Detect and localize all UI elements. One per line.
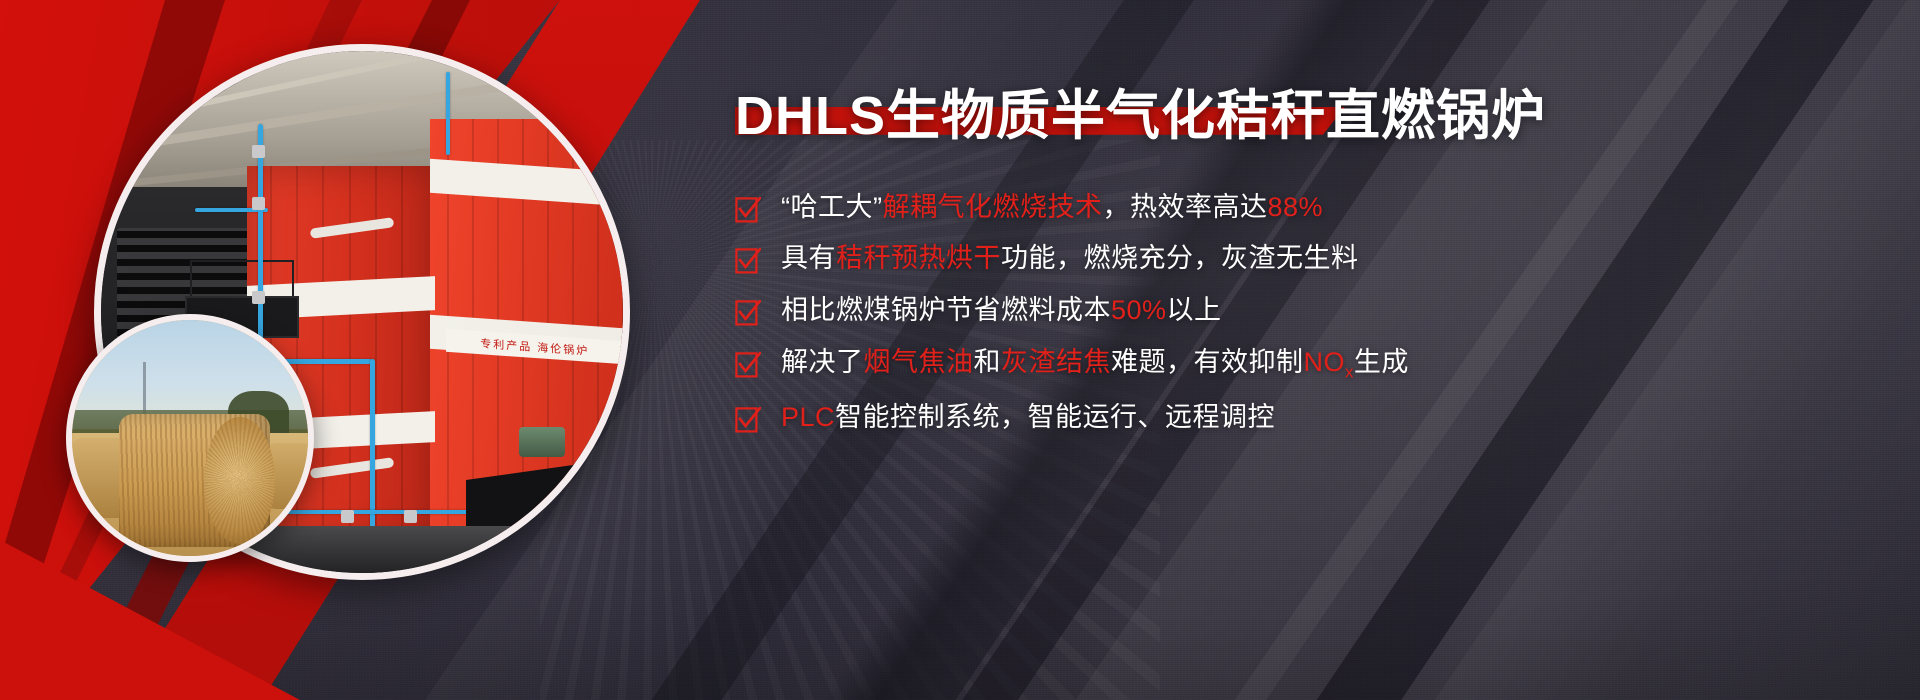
feature-text-segment: ，热效率高达 bbox=[1102, 192, 1267, 222]
straw-bale-face bbox=[204, 417, 275, 544]
feature-item: 具有秸秆预热烘干功能，燃烧充分，灰渣无生料 bbox=[735, 242, 1875, 276]
feature-text-segment: 烟气焦油 bbox=[864, 347, 974, 377]
feature-item: PLC智能控制系统，智能运行、远程调控 bbox=[735, 401, 1875, 435]
feature-text: 解决了烟气焦油和灰渣结焦难题，有效抑制NOx生成 bbox=[781, 346, 1875, 383]
feature-text-segment: 和 bbox=[974, 347, 1002, 377]
checkbox-checked-icon bbox=[735, 352, 761, 378]
feature-text: 相比燃煤锅炉节省燃料成本50%以上 bbox=[781, 294, 1875, 328]
straw-bale-photo bbox=[66, 314, 314, 562]
feature-text-segment: 50% bbox=[1111, 295, 1167, 325]
feature-text-segment: 秸秆预热烘干 bbox=[836, 243, 1001, 273]
feature-text-segment: x bbox=[1345, 362, 1354, 381]
feature-text-segment: 解耦气化燃烧技术 bbox=[882, 192, 1102, 222]
feature-item: 相比燃煤锅炉节省燃料成本50%以上 bbox=[735, 294, 1875, 328]
feature-text-segment: NO bbox=[1304, 347, 1346, 377]
blue-pipe bbox=[446, 72, 450, 156]
feature-text-segment: “哈工大” bbox=[781, 192, 882, 222]
feature-text-segment: 88% bbox=[1267, 192, 1323, 222]
feature-text-segment: 以上 bbox=[1167, 295, 1222, 325]
feature-text-segment: PLC bbox=[781, 402, 835, 432]
title-block: DHLS生物质半气化秸秆直燃锅炉 bbox=[735, 88, 1546, 145]
feature-item: “哈工大”解耦气化燃烧技术，热效率高达88% bbox=[735, 191, 1875, 225]
feature-text-segment: 智能控制系统，智能运行、远程调控 bbox=[835, 402, 1275, 432]
boiler-railing bbox=[190, 260, 294, 302]
feature-text-segment: 难题，有效抑制 bbox=[1111, 347, 1304, 377]
checkbox-checked-icon bbox=[735, 197, 761, 223]
checkbox-checked-icon bbox=[735, 300, 761, 326]
feature-text-segment: 解决了 bbox=[781, 347, 864, 377]
feature-text: “哈工大”解耦气化燃烧技术，热效率高达88% bbox=[781, 191, 1875, 225]
feature-text-segment: 相比燃煤锅炉节省燃料成本 bbox=[781, 295, 1111, 325]
straw-photo-scene bbox=[72, 320, 308, 556]
feature-text-segment: 具有 bbox=[781, 243, 836, 273]
checkbox-checked-icon bbox=[735, 248, 761, 274]
feature-text-segment: 功能，燃烧充分，灰渣无生料 bbox=[1001, 243, 1359, 273]
pipe-valve bbox=[252, 145, 265, 158]
feature-list: “哈工大”解耦气化燃烧技术，热效率高达88%具有秸秆预热烘干功能，燃烧充分，灰渣… bbox=[735, 191, 1875, 435]
banner-title: DHLS生物质半气化秸秆直燃锅炉 bbox=[735, 88, 1546, 145]
feature-item: 解决了烟气焦油和灰渣结焦难题，有效抑制NOx生成 bbox=[735, 346, 1875, 383]
feature-text: 具有秸秆预热烘干功能，燃烧充分，灰渣无生料 bbox=[781, 242, 1875, 276]
feeder-motor bbox=[519, 427, 565, 457]
feature-text-segment: 生成 bbox=[1354, 347, 1409, 377]
banner-content: DHLS生物质半气化秸秆直燃锅炉 “哈工大”解耦气化燃烧技术，热效率高达88%具… bbox=[735, 88, 1875, 453]
pipe-valve bbox=[404, 510, 417, 523]
product-banner: 专利产品 海伦锅炉 bbox=[0, 0, 1920, 700]
pipe-valve bbox=[341, 510, 354, 523]
pipe-valve bbox=[252, 197, 265, 210]
feature-text: PLC智能控制系统，智能运行、远程调控 bbox=[781, 401, 1875, 435]
feature-text-segment: 灰渣结焦 bbox=[1001, 347, 1111, 377]
checkbox-checked-icon bbox=[735, 407, 761, 433]
pipe-valve bbox=[252, 291, 265, 304]
